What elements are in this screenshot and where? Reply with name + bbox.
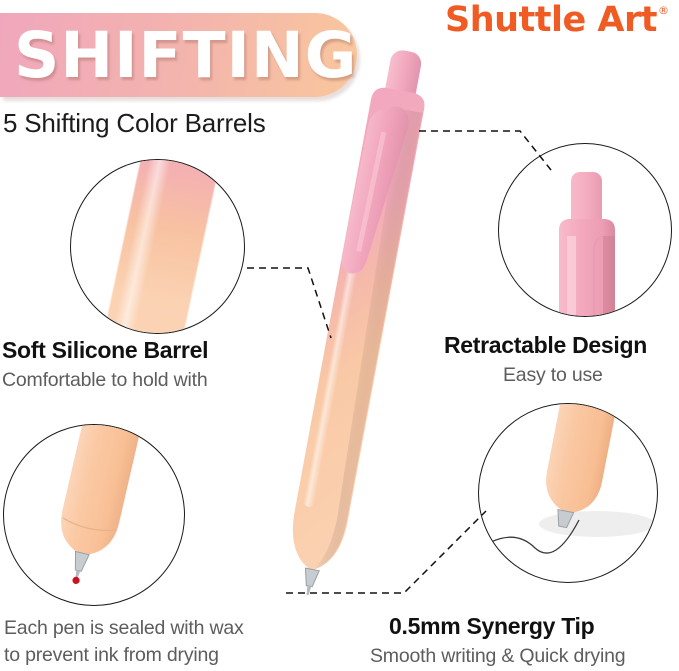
- pen-edge-shading: [313, 108, 422, 574]
- feature-title-soft-silicone-barrel: Soft Silicone Barrel: [2, 337, 208, 364]
- feature-title-synergy-tip: 0.5mm Synergy Tip: [389, 613, 594, 640]
- connector-synergy-tip: [286, 511, 486, 593]
- pen-illustration: [280, 46, 434, 600]
- magnifier-soft-silicone-barrel: [70, 159, 245, 334]
- feature-desc-retractable-design: Easy to use: [503, 364, 603, 387]
- feature-desc-soft-silicone-barrel: Comfortable to hold with: [2, 369, 207, 392]
- registered-trademark-icon: ®: [658, 5, 669, 16]
- brand-name: Shuttle Art: [445, 3, 657, 38]
- magnifier-retractable-design: [498, 143, 672, 317]
- clicker-closeup-graphic: [499, 144, 672, 317]
- product-infographic: Shuttle Art ® SHIFTING 5 Shifting Color …: [0, 0, 679, 671]
- feature-title-retractable-design: Retractable Design: [444, 332, 647, 359]
- pen-tip-point: [306, 586, 312, 596]
- wax-tip-closeup-graphic: [4, 425, 185, 606]
- shifting-banner: SHIFTING: [0, 13, 357, 97]
- pen-highlight: [303, 112, 387, 507]
- feature-desc-synergy-tip: Smooth writing & Quick drying: [370, 645, 625, 668]
- brand-logo: Shuttle Art ®: [445, 3, 669, 38]
- pen-plunger: [381, 48, 423, 115]
- pen-seam: [361, 148, 413, 161]
- feature-desc-wax-seal-line1: Each pen is sealed with wax: [4, 617, 244, 640]
- feature-desc-wax-seal-line2: to prevent ink from drying: [4, 644, 219, 667]
- magnifier-wax-seal: [3, 424, 185, 606]
- banner-word: SHIFTING: [14, 24, 357, 87]
- headline-subtitle: 5 Shifting Color Barrels: [3, 108, 266, 139]
- connector-soft-silicone-barrel: [247, 268, 331, 338]
- synergy-tip-closeup-graphic: [479, 404, 658, 583]
- pen-clip: [339, 102, 411, 279]
- pen-barrel: [285, 86, 427, 576]
- magnifier-synergy-tip: [478, 403, 658, 583]
- pen-tip-metal: [302, 568, 319, 587]
- pen-clip-highlight: [356, 131, 386, 252]
- barrel-closeup-graphic: [98, 159, 226, 334]
